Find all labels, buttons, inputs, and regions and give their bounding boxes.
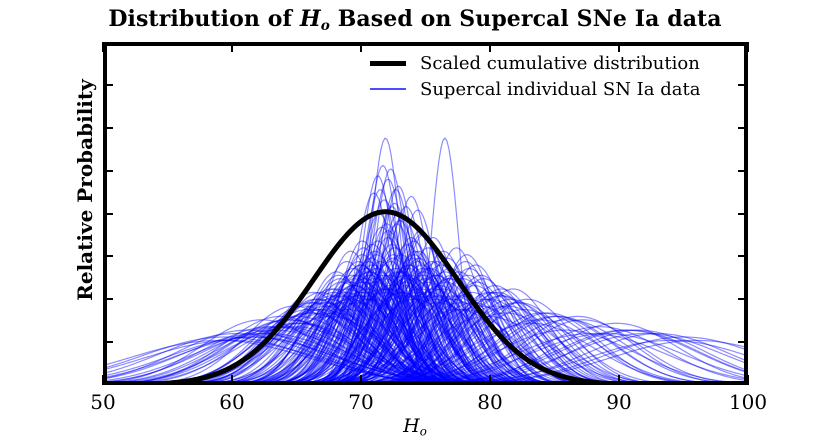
- y-tick-mark: [103, 255, 113, 257]
- x-tick-mark: [747, 375, 749, 385]
- legend-label-individual: Supercal individual SN Ia data: [420, 79, 700, 100]
- chart-legend: Scaled cumulative distribution Supercal …: [370, 50, 740, 102]
- x-tick-mark-top: [231, 42, 233, 52]
- xlabel-math-variable: H: [403, 415, 420, 437]
- xlabel-math-subscript: o: [420, 424, 427, 438]
- legend-line-sample-cumulative: [370, 61, 406, 66]
- x-axis-label: Ho: [0, 415, 830, 438]
- x-tick-label: 60: [202, 390, 262, 414]
- y-tick-mark-right: [738, 298, 748, 300]
- title-math-variable: H: [300, 6, 321, 32]
- y-tick-mark: [103, 170, 113, 172]
- y-tick-mark-right: [738, 170, 748, 172]
- x-tick-mark: [360, 375, 362, 385]
- x-tick-label: 80: [460, 390, 520, 414]
- x-tick-label: 90: [589, 390, 649, 414]
- x-tick-label: 50: [73, 390, 133, 414]
- x-tick-label: 100: [718, 390, 778, 414]
- y-tick-mark: [103, 298, 113, 300]
- x-tick-mark: [618, 375, 620, 385]
- y-tick-mark-right: [738, 213, 748, 215]
- legend-item-individual: Supercal individual SN Ia data: [370, 76, 740, 102]
- y-axis-label: Relative Probability: [73, 35, 97, 345]
- chart-title: Distribution of Ho Based on Supercal SNe…: [0, 6, 830, 34]
- x-tick-mark-top: [747, 42, 749, 52]
- y-tick-mark: [103, 341, 113, 343]
- legend-item-cumulative: Scaled cumulative distribution: [370, 50, 740, 76]
- title-math-subscript: o: [321, 18, 330, 34]
- x-tick-mark: [489, 375, 491, 385]
- legend-line-sample-individual: [370, 88, 406, 90]
- chart-figure: Distribution of Ho Based on Supercal SNe…: [0, 0, 830, 445]
- x-tick-mark-top: [360, 42, 362, 52]
- y-tick-mark: [103, 84, 113, 86]
- y-tick-mark-right: [738, 127, 748, 129]
- y-tick-mark: [103, 213, 113, 215]
- x-tick-mark: [102, 375, 104, 385]
- title-after: Based on Supercal SNe Ia data: [330, 6, 722, 32]
- y-tick-mark-right: [738, 255, 748, 257]
- y-tick-mark-right: [738, 341, 748, 343]
- x-tick-mark: [231, 375, 233, 385]
- title-before: Distribution of: [108, 6, 300, 32]
- x-tick-label: 70: [331, 390, 391, 414]
- y-tick-mark: [103, 127, 113, 129]
- individual-sn-curves-group: [103, 138, 747, 385]
- legend-label-cumulative: Scaled cumulative distribution: [420, 53, 700, 74]
- x-tick-mark-top: [102, 42, 104, 52]
